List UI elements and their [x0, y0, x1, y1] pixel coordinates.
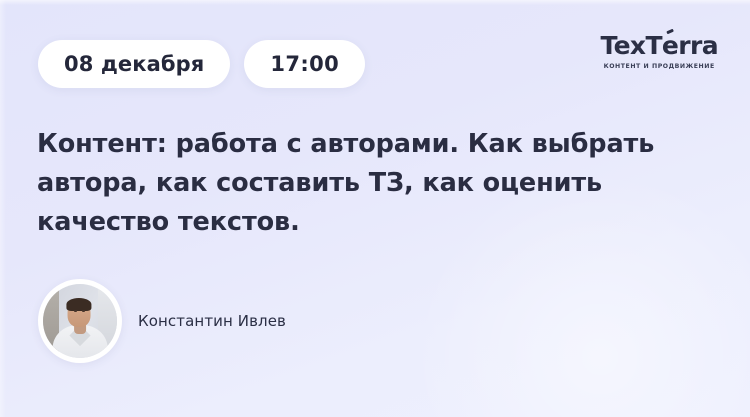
webinar-banner: TexTerra КОНТЕНТ И ПРОДВИЖЕНИЕ 08 декабр… [0, 0, 750, 417]
event-title-line-3: качество текстов. [37, 203, 677, 242]
event-time-label: 17:00 [270, 52, 339, 76]
event-title-line-1: Контент: работа с авторами. Как выбрать [37, 125, 677, 164]
event-date-label: 08 декабря [64, 52, 204, 76]
event-title-line-2: автора, как составить ТЗ, как оценить [37, 164, 677, 203]
logo-word-part-2: e [662, 31, 678, 60]
avatar-photo-hair [67, 298, 92, 311]
logo-wordmark: TexTerra [600, 33, 718, 58]
event-title: Контент: работа с авторами. Как выбрать … [37, 125, 677, 242]
logo-word-part-3: rra [678, 31, 718, 60]
logo-tagline: КОНТЕНТ И ПРОДВИЖЕНИЕ [600, 63, 718, 70]
textterra-logo[interactable]: TexTerra КОНТЕНТ И ПРОДВИЖЕНИЕ [600, 33, 718, 70]
event-schedule-pills: 08 декабря 17:00 [38, 40, 365, 88]
top-sheen-decoration [0, 0, 750, 5]
logo-word-part-1: TexT [600, 31, 661, 60]
event-date-pill[interactable]: 08 декабря [38, 40, 230, 88]
speaker-name: Константин Ивлев [138, 312, 286, 330]
left-sheen-decoration [0, 0, 6, 417]
speaker-avatar-ring [38, 279, 122, 363]
avatar-photo-eye-left [74, 310, 77, 312]
speaker-block: Константин Ивлев [38, 279, 286, 363]
avatar [43, 284, 117, 358]
event-time-pill[interactable]: 17:00 [244, 40, 365, 88]
logo-accent-letter: e [662, 33, 678, 58]
